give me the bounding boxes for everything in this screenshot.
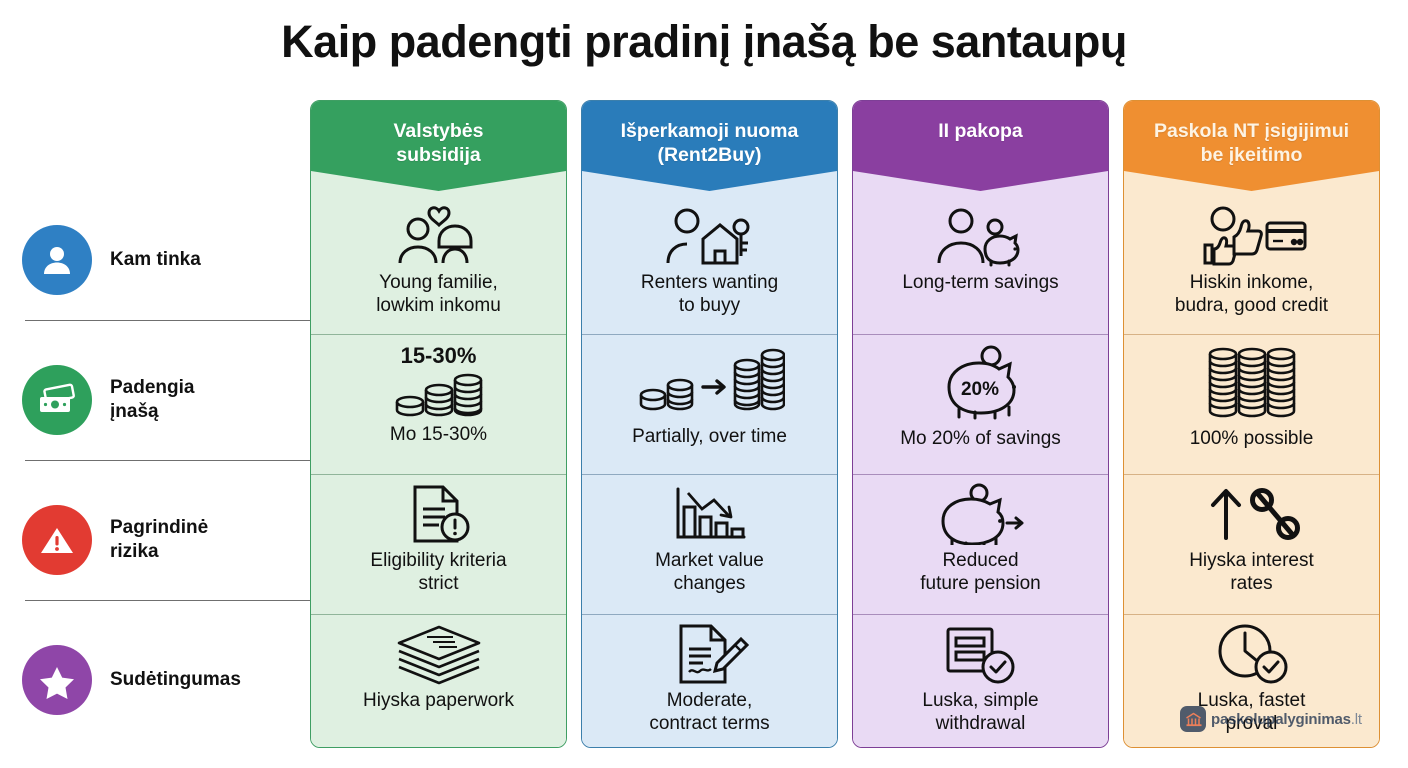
piggy-20-icon: 20% xyxy=(935,341,1027,425)
column-header-text: Valstybės subsidija xyxy=(394,119,484,168)
form-check-icon xyxy=(940,621,1022,687)
row-label-kam-tinka: Kam tinka xyxy=(22,190,312,330)
document-alert-icon xyxy=(403,481,475,547)
person-house-key-icon xyxy=(663,203,757,269)
column-cells: Renters wanting to buyy xyxy=(582,197,837,748)
cell-text: Eligibility kriteria strict xyxy=(370,549,506,595)
cell-purple-padengia-inasa: 20% Mo 20% of savings xyxy=(853,334,1108,474)
page-title: Kaip padengti pradinį įnašą be santaupų xyxy=(0,16,1408,68)
cell-text: Mo 20% of savings xyxy=(900,427,1061,450)
column-cells: Hiskin inkome, budra, good credit xyxy=(1124,197,1379,748)
row-label-text: Sudėtingumas xyxy=(110,668,241,692)
column-header-text: Išperkamoji nuoma (Rent2Buy) xyxy=(621,119,799,168)
row-label-pagrindine-rizika: Pagrindinė rizika xyxy=(22,470,312,610)
row-label-text: Kam tinka xyxy=(110,248,201,272)
watermark-tld: .lt xyxy=(1351,711,1362,728)
column-header: II pakopa xyxy=(853,101,1108,197)
watermark-name: paskolupalyginimas xyxy=(1211,711,1351,728)
cell-text: Luska, simple withdrawal xyxy=(922,689,1038,735)
cell-blue-kam-tinka: Renters wanting to buyy xyxy=(582,197,837,334)
column-paskola-nt[interactable]: Paskola NT įsigijimui be įkeitimo xyxy=(1123,100,1380,748)
cell-green-sudetingumas: Hiyska paperwork xyxy=(311,614,566,748)
column-cells: Long-term savings 20% Mo 20% of savings xyxy=(853,197,1108,748)
tall-coins-icon xyxy=(1202,341,1302,425)
cell-text: Reduced future pension xyxy=(920,549,1040,595)
cell-text: Partially, over time xyxy=(632,425,787,448)
chevron-notch-icon xyxy=(853,171,1108,197)
warning-icon xyxy=(22,505,92,575)
person-icon xyxy=(22,225,92,295)
cell-blue-pagrindine-rizika: Market value changes xyxy=(582,474,837,614)
cell-text: Hiyska paperwork xyxy=(363,689,514,712)
cell-text: Mo 15-30% xyxy=(390,423,487,446)
family-heart-icon xyxy=(391,203,487,269)
arrow-up-percent-icon xyxy=(1200,481,1304,547)
watermark-text: paskolupalyginimas.lt xyxy=(1211,711,1362,728)
cell-text: Renters wanting to buyy xyxy=(641,271,778,317)
cell-text: Market value changes xyxy=(655,549,764,595)
cell-text: Hiyska interest rates xyxy=(1189,549,1314,595)
column-cells: Young familie, lowkim inkomu 15-30% Mo 1… xyxy=(311,197,566,748)
cell-blue-padengia-inasa: Partially, over time xyxy=(582,334,837,474)
chevron-notch-icon xyxy=(582,171,837,197)
watermark[interactable]: paskolupalyginimas.lt xyxy=(1180,706,1362,732)
cell-orange-padengia-inasa: 100% possible xyxy=(1124,334,1379,474)
cell-orange-kam-tinka: Hiskin inkome, budra, good credit xyxy=(1124,197,1379,334)
coins-arrow-icon xyxy=(635,341,785,423)
column-ii-pakopa[interactable]: II pakopa Long-term savings xyxy=(852,100,1109,748)
chevron-notch-icon xyxy=(1124,171,1379,197)
cell-green-padengia-inasa: 15-30% Mo 15-30% xyxy=(311,334,566,474)
person-piggy-icon xyxy=(933,203,1029,269)
coin-stacks-icon xyxy=(390,367,488,421)
row-label-text: Pagrindinė rizika xyxy=(110,516,208,564)
chevron-notch-icon xyxy=(311,171,566,197)
chart-down-icon xyxy=(670,481,750,547)
row-label-padengia-inasa: Padengia įnašą xyxy=(22,330,312,470)
column-isperkamoji-nuoma[interactable]: Išperkamoji nuoma (Rent2Buy) Rent xyxy=(581,100,838,748)
cell-text: Long-term savings xyxy=(902,271,1058,294)
cell-text: 100% possible xyxy=(1190,427,1314,450)
cell-top-value: 15-30% xyxy=(401,345,477,367)
piggy-arrow-icon xyxy=(935,481,1027,547)
column-header: Valstybės subsidija xyxy=(311,101,566,197)
piggy-badge-text: 20% xyxy=(960,379,998,400)
star-icon xyxy=(22,645,92,715)
contract-pen-icon xyxy=(671,621,749,687)
thumbs-card-icon xyxy=(1197,203,1307,269)
cell-green-kam-tinka: Young familie, lowkim inkomu xyxy=(311,197,566,334)
cell-purple-sudetingumas: Luska, simple withdrawal xyxy=(853,614,1108,748)
row-label-sudetingumas: Sudėtingumas xyxy=(22,610,312,750)
cell-text: Young familie, lowkim inkomu xyxy=(376,271,501,317)
row-label-text: Padengia įnašą xyxy=(110,376,194,424)
column-header-text: II pakopa xyxy=(938,119,1023,143)
clock-check-icon xyxy=(1211,621,1293,687)
cell-orange-pagrindine-rizika: Hiyska interest rates xyxy=(1124,474,1379,614)
house-bank-logo-icon xyxy=(1180,706,1206,732)
column-header-text: Paskola NT įsigijimui be įkeitimo xyxy=(1154,119,1349,168)
paper-stack-icon xyxy=(393,621,485,687)
infographic-page: Kaip padengti pradinį įnašą be santaupų … xyxy=(0,0,1408,768)
cell-blue-sudetingumas: Moderate, contract terms xyxy=(582,614,837,748)
cell-green-pagrindine-rizika: Eligibility kriteria strict xyxy=(311,474,566,614)
cell-text: Hiskin inkome, budra, good credit xyxy=(1175,271,1328,317)
cell-purple-pagrindine-rizika: Reduced future pension xyxy=(853,474,1108,614)
column-header: Išperkamoji nuoma (Rent2Buy) xyxy=(582,101,837,197)
cell-text: Moderate, contract terms xyxy=(649,689,769,735)
banknotes-icon xyxy=(22,365,92,435)
cell-purple-kam-tinka: Long-term savings xyxy=(853,197,1108,334)
row-label-rail: Kam tinka Padengia įnašą xyxy=(0,190,310,750)
column-header: Paskola NT įsigijimui be įkeitimo xyxy=(1124,101,1379,197)
column-valstybes-subsidija[interactable]: Valstybės subsidija Young familie, lowki… xyxy=(310,100,567,748)
